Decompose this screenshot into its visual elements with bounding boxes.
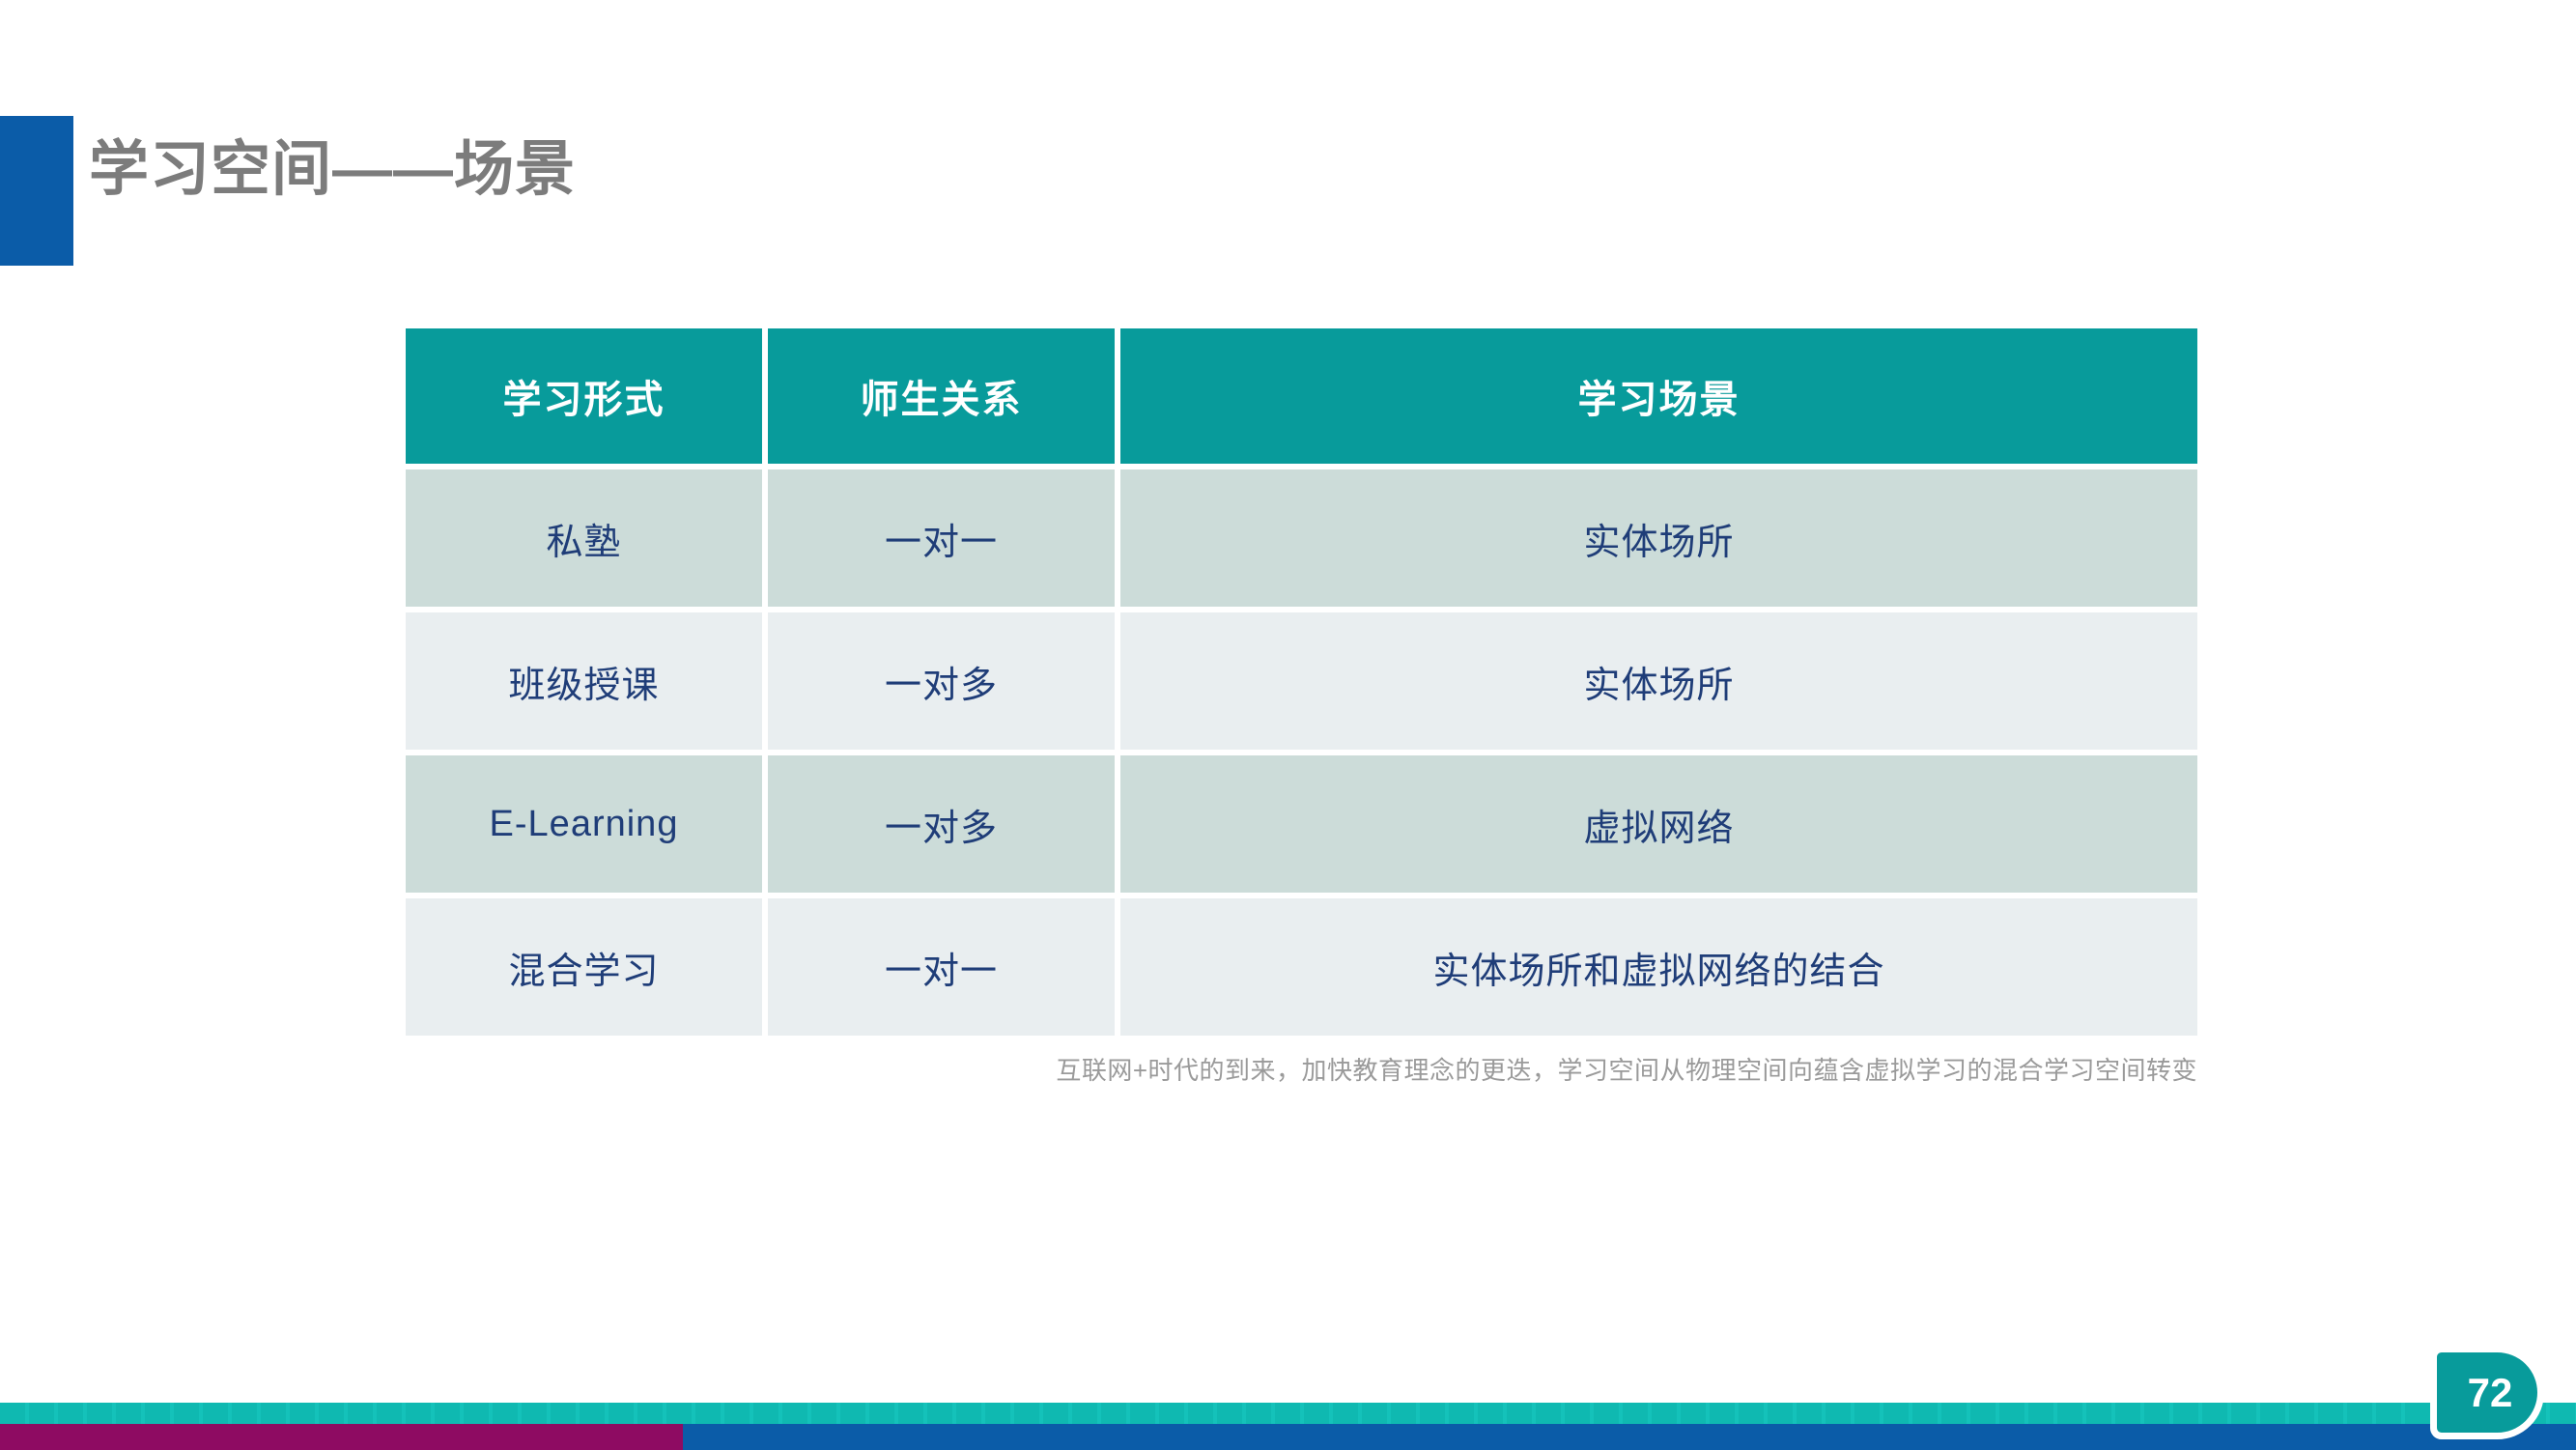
table-row: E-Learning 一对多 虚拟网络: [406, 755, 2197, 898]
page-title: 学习空间——场景: [89, 138, 576, 201]
cell-learning-form: 私塾: [406, 469, 768, 612]
table-row: 私塾 一对一 实体场所: [406, 469, 2197, 612]
cell-scene: 实体场所: [1120, 612, 2197, 755]
cell-relation: 一对多: [768, 755, 1120, 898]
cell-scene: 实体场所: [1120, 469, 2197, 612]
table-header-row: 学习形式 师生关系 学习场景: [406, 328, 2197, 469]
title-accent-bar: [0, 116, 73, 266]
cell-scene: 虚拟网络: [1120, 755, 2197, 898]
cell-scene: 实体场所和虚拟网络的结合: [1120, 898, 2197, 1036]
table-caption: 互联网+时代的到来，加快教育理念的更迭，学习空间从物理空间向蕴含虚拟学习的混合学…: [406, 1051, 2197, 1087]
column-header-teacher-student: 师生关系: [768, 328, 1120, 469]
column-header-learning-scene: 学习场景: [1120, 328, 2197, 469]
column-header-learning-form: 学习形式: [406, 328, 768, 469]
page-number-text: 72: [2462, 1373, 2513, 1413]
learning-space-table: 学习形式 师生关系 学习场景 私塾 一对一 实体场所 班级授课 一对多 实体场所…: [406, 328, 2197, 1036]
footer-bar-purple: [0, 1424, 683, 1450]
footer-bar-blue: [683, 1424, 2576, 1450]
page-number-badge: 72: [2430, 1346, 2544, 1439]
cell-relation: 一对一: [768, 898, 1120, 1036]
cell-relation: 一对多: [768, 612, 1120, 755]
table-row: 混合学习 一对一 实体场所和虚拟网络的结合: [406, 898, 2197, 1036]
table-row: 班级授课 一对多 实体场所: [406, 612, 2197, 755]
cell-learning-form: 混合学习: [406, 898, 768, 1036]
cell-learning-form: 班级授课: [406, 612, 768, 755]
cell-relation: 一对一: [768, 469, 1120, 612]
footer-stripe-band: [0, 1403, 2576, 1424]
cell-learning-form: E-Learning: [406, 755, 768, 898]
